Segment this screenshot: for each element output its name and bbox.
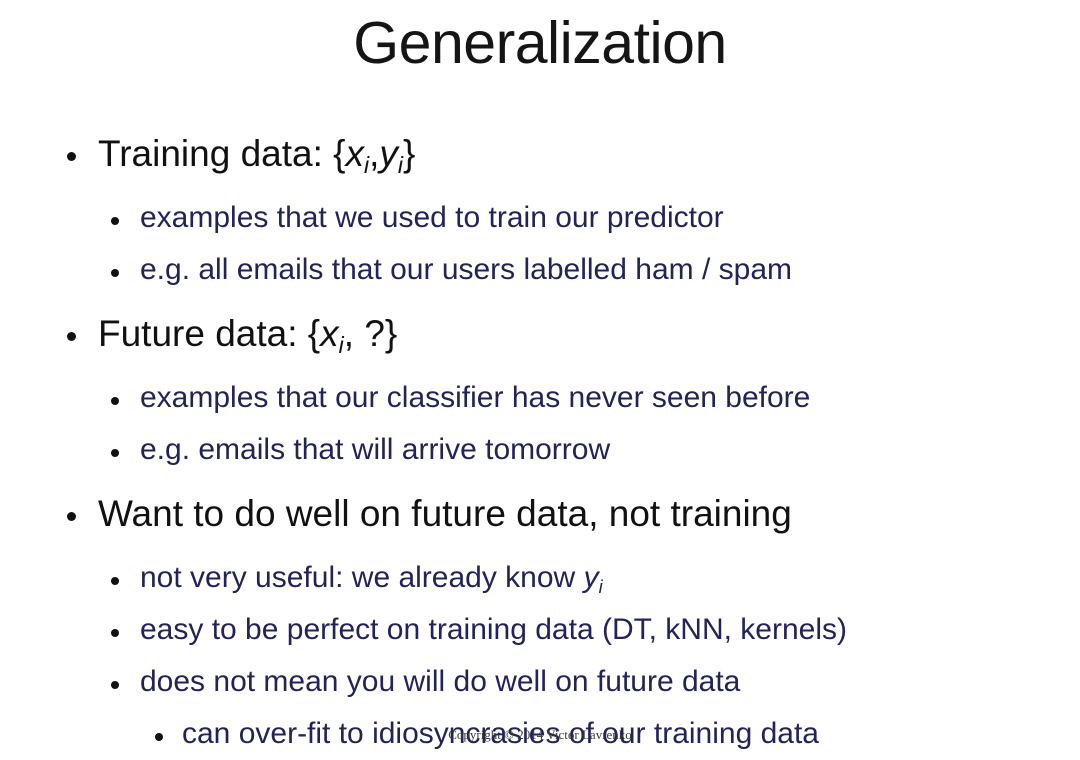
bullet-marker-icon: [111, 629, 119, 637]
spacer: [0, 296, 1080, 304]
list-item-label: easy to be perfect on training data (DT,…: [140, 604, 1080, 656]
math-variable-x: xi: [346, 133, 370, 174]
math-variable-y: yi: [584, 561, 603, 594]
list-item: Future data: {xi, ?}: [0, 304, 1080, 364]
list-item-text-prefix: not very useful: we already know: [140, 561, 584, 594]
math-subscript-i: i: [339, 332, 344, 358]
list-item: e.g. all emails that our users labelled …: [0, 244, 1080, 296]
list-item: e.g. emails that will arrive tomorrow: [0, 424, 1080, 476]
math-subscript-i: i: [364, 152, 369, 178]
page-title: Generalization: [0, 6, 1080, 80]
list-item-label: e.g. emails that will arrive tomorrow: [140, 424, 1080, 476]
list-item: Want to do well on future data, not trai…: [0, 484, 1080, 544]
list-item-text-suffix: }: [403, 133, 415, 174]
math-variable-y: yi: [379, 133, 403, 174]
math-separator: , ?: [344, 313, 385, 354]
list-item-label: examples that our classifier has never s…: [140, 372, 1080, 424]
slide-canvas: Generalization Training data: {xi,yi} ex…: [0, 0, 1080, 749]
bullet-marker-icon: [111, 397, 119, 405]
list-item: easy to be perfect on training data (DT,…: [0, 604, 1080, 656]
bullet-marker-icon: [111, 681, 119, 689]
bullet-marker-icon: [67, 152, 76, 161]
math-variable-x-symbol: x: [346, 133, 365, 174]
math-separator: ,: [369, 133, 379, 174]
list-item: does not mean you will do well on future…: [0, 656, 1080, 708]
bullet-marker-icon: [111, 217, 119, 225]
list-item-label: e.g. all emails that our users labelled …: [140, 244, 1080, 296]
math-variable-y-symbol: y: [584, 561, 599, 594]
list-item-label: examples that we used to train our predi…: [140, 192, 1080, 244]
list-item-text-prefix: Future data: {: [98, 313, 320, 354]
list-item: Training data: {xi,yi}: [0, 124, 1080, 184]
list-item-label: does not mean you will do well on future…: [140, 656, 1080, 708]
spacer: [0, 476, 1080, 484]
bullet-marker-icon: [67, 512, 76, 521]
bullet-list: Training data: {xi,yi} examples that we …: [0, 124, 1080, 760]
bullet-marker-icon: [67, 332, 76, 341]
list-item: not very useful: we already know yi: [0, 552, 1080, 604]
copyright-footer: Copyright © 2014 Victor Lavrenko: [0, 727, 1080, 743]
math-subscript-i: i: [398, 152, 403, 178]
math-variable-y-symbol: y: [379, 133, 398, 174]
math-subscript-i: i: [599, 576, 603, 597]
bullet-marker-icon: [111, 269, 119, 277]
list-item-label: Want to do well on future data, not trai…: [98, 484, 1080, 544]
list-item-label: not very useful: we already know yi: [140, 552, 1080, 607]
list-item: examples that we used to train our predi…: [0, 192, 1080, 244]
spacer: [0, 544, 1080, 552]
list-item-label: Training data: {xi,yi}: [98, 124, 1080, 188]
list-item-label: Future data: {xi, ?}: [98, 304, 1080, 368]
list-item-text-prefix: Training data: {: [98, 133, 346, 174]
list-item-text-suffix: }: [385, 313, 397, 354]
math-variable-x-symbol: x: [320, 313, 339, 354]
math-variable-x: xi: [320, 313, 344, 354]
bullet-marker-icon: [111, 449, 119, 457]
bullet-marker-icon: [111, 577, 119, 585]
list-item: examples that our classifier has never s…: [0, 372, 1080, 424]
